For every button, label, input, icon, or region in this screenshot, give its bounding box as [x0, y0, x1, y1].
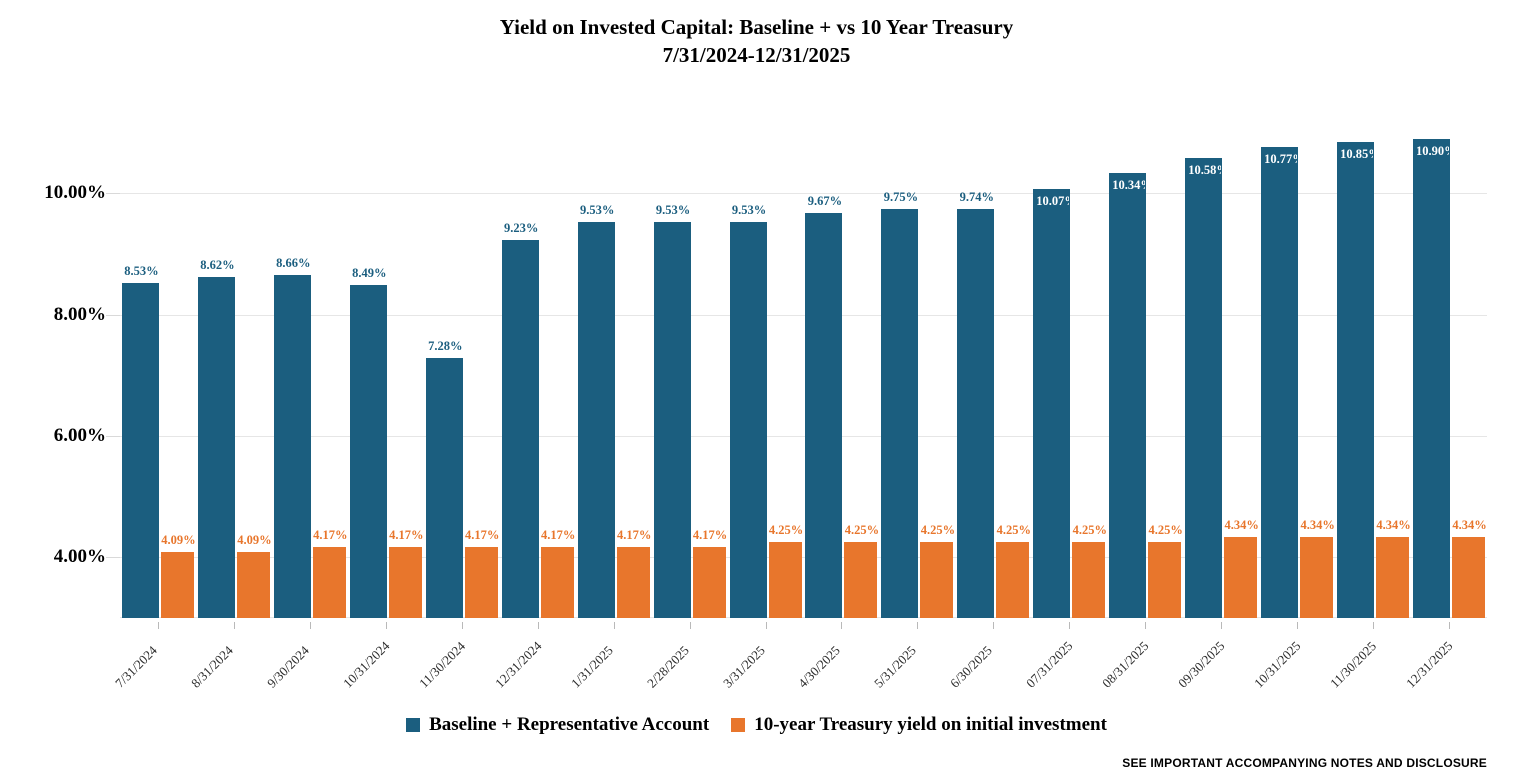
plot-area: 8.53%4.09%8.62%4.09%8.66%4.17%8.49%4.17%… [120, 140, 1487, 618]
bar-group: 7.28%4.17% [424, 140, 500, 618]
bar-baseline[interactable] [1185, 158, 1222, 618]
x-axis-tick-label: 08/31/2025 [1099, 638, 1152, 691]
y-axis: 4.00%6.00%8.00%10.00% [0, 140, 120, 618]
bar-value-label-baseline: 10.58% [1188, 164, 1221, 177]
bar-baseline[interactable] [274, 275, 311, 618]
bar-baseline[interactable] [1337, 142, 1374, 618]
bar-treasury[interactable] [1300, 537, 1333, 618]
legend-label: 10-year Treasury yield on initial invest… [754, 714, 1107, 736]
bar-treasury[interactable] [617, 547, 650, 618]
bar-baseline[interactable] [957, 209, 994, 618]
bar-value-label-treasury: 4.34% [1220, 519, 1263, 532]
bar-value-label-treasury: 4.34% [1296, 519, 1339, 532]
x-axis-tick-label: 8/31/2024 [188, 643, 237, 692]
bar-value-label-baseline: 9.23% [499, 222, 544, 235]
bar-value-label-treasury: 4.09% [233, 534, 276, 547]
chart-legend: Baseline + Representative Account10-year… [0, 714, 1513, 736]
x-axis-tick-mark [1145, 622, 1146, 629]
bar-baseline[interactable] [1033, 189, 1070, 618]
bar-baseline[interactable] [730, 222, 767, 618]
bar-baseline[interactable] [122, 283, 159, 618]
legend-item[interactable]: Baseline + Representative Account [406, 714, 709, 736]
x-axis-tick-mark [1221, 622, 1222, 629]
bar-baseline[interactable] [426, 358, 463, 618]
bar-baseline[interactable] [881, 209, 918, 618]
bar-value-label-treasury: 4.25% [840, 524, 883, 537]
bar-treasury[interactable] [541, 547, 574, 618]
bar-baseline[interactable] [654, 222, 691, 618]
bar-value-label-treasury: 4.25% [992, 524, 1035, 537]
bar-baseline[interactable] [350, 285, 387, 618]
bar-value-label-baseline: 9.53% [651, 204, 696, 217]
bar-value-label-treasury: 4.17% [689, 529, 732, 542]
bar-value-label-treasury: 4.25% [765, 524, 808, 537]
bar-value-label-treasury: 4.17% [461, 529, 504, 542]
bar-group: 9.75%4.25% [879, 140, 955, 618]
bar-value-label-treasury: 4.25% [916, 524, 959, 537]
bar-group: 8.53%4.09% [120, 140, 196, 618]
bar-treasury[interactable] [769, 542, 802, 618]
y-axis-tick-label: 8.00% [54, 304, 106, 326]
x-axis-tick-label: 11/30/2024 [416, 638, 469, 691]
x-axis-tick-mark [310, 622, 311, 629]
x-axis-tick-label: 12/31/2024 [492, 638, 545, 691]
bar-group: 9.23%4.17% [500, 140, 576, 618]
x-axis-tick-mark [841, 622, 842, 629]
bar-value-label-baseline: 7.28% [423, 340, 468, 353]
legend-swatch-baseline [406, 718, 420, 732]
disclosure-note: SEE IMPORTANT ACCOMPANYING NOTES AND DIS… [1122, 756, 1487, 770]
x-axis-tick-mark [462, 622, 463, 629]
bar-treasury[interactable] [465, 547, 498, 618]
bar-treasury[interactable] [389, 547, 422, 618]
legend-item[interactable]: 10-year Treasury yield on initial invest… [731, 714, 1107, 736]
legend-swatch-treasury [731, 718, 745, 732]
bar-value-label-baseline: 10.34% [1112, 179, 1145, 192]
bar-value-label-treasury: 4.17% [309, 529, 352, 542]
bar-group: 9.67%4.25% [804, 140, 880, 618]
bar-group: 8.66%4.17% [272, 140, 348, 618]
bar-baseline[interactable] [1413, 139, 1450, 618]
bar-value-label-baseline: 9.53% [575, 204, 620, 217]
bar-treasury[interactable] [161, 552, 194, 618]
bar-group: 9.53%4.25% [728, 140, 804, 618]
x-axis-tick-label: 2/28/2025 [644, 643, 693, 692]
bar-treasury[interactable] [920, 542, 953, 618]
bar-group: 10.90%4.34% [1411, 140, 1487, 618]
x-axis-tick-label: 11/30/2025 [1327, 638, 1380, 691]
x-axis-tick-mark [1373, 622, 1374, 629]
x-axis-tick-mark [538, 622, 539, 629]
bar-value-label-treasury: 4.34% [1448, 519, 1491, 532]
x-axis-tick-mark [766, 622, 767, 629]
x-axis-tick-mark [386, 622, 387, 629]
x-axis-tick-label: 12/31/2025 [1403, 638, 1456, 691]
bar-value-label-baseline: 8.49% [347, 267, 392, 280]
x-axis-tick-mark [690, 622, 691, 629]
bar-baseline[interactable] [198, 277, 235, 618]
x-axis-tick-mark [234, 622, 235, 629]
x-axis-tick-mark [158, 622, 159, 629]
bar-treasury[interactable] [844, 542, 877, 618]
bar-baseline[interactable] [502, 240, 539, 618]
x-axis-tick-mark [1069, 622, 1070, 629]
bar-value-label-treasury: 4.34% [1372, 519, 1415, 532]
bar-treasury[interactable] [996, 542, 1029, 618]
x-axis-tick-mark [1297, 622, 1298, 629]
x-axis-tick-label: 3/31/2025 [720, 643, 769, 692]
x-axis-tick-label: 6/30/2025 [947, 643, 996, 692]
bar-value-label-baseline: 8.66% [271, 257, 316, 270]
bar-group: 10.77%4.34% [1259, 140, 1335, 618]
bar-group: 9.53%4.17% [576, 140, 652, 618]
bar-group: 9.53%4.17% [652, 140, 728, 618]
x-axis-tick-label: 4/30/2025 [795, 643, 844, 692]
x-axis-tick-mark [993, 622, 994, 629]
bar-baseline[interactable] [805, 213, 842, 618]
bar-value-label-baseline: 9.53% [727, 204, 772, 217]
bar-baseline[interactable] [1109, 173, 1146, 618]
bar-group: 9.74%4.25% [955, 140, 1031, 618]
bar-value-label-treasury: 4.17% [385, 529, 428, 542]
bar-treasury[interactable] [1148, 542, 1181, 618]
bar-group: 8.49%4.17% [348, 140, 424, 618]
bar-baseline[interactable] [578, 222, 615, 618]
x-axis-tick-label: 09/30/2025 [1175, 638, 1228, 691]
bar-value-label-treasury: 4.25% [1144, 524, 1187, 537]
bar-treasury[interactable] [1376, 537, 1409, 618]
bar-baseline[interactable] [1261, 147, 1298, 618]
bar-group: 10.34%4.25% [1107, 140, 1183, 618]
bar-value-label-baseline: 9.67% [802, 195, 847, 208]
x-axis-tick-label: 10/31/2024 [340, 638, 393, 691]
bar-value-label-baseline: 8.62% [195, 259, 240, 272]
bar-value-label-baseline: 9.74% [954, 191, 999, 204]
chart-title: Yield on Invested Capital: Baseline + vs… [0, 14, 1513, 70]
x-axis-tick-label: 10/31/2025 [1251, 638, 1304, 691]
bar-treasury[interactable] [1452, 537, 1485, 618]
bar-value-label-baseline: 10.90% [1416, 145, 1449, 158]
legend-label: Baseline + Representative Account [429, 714, 709, 736]
chart-title-line-2: 7/31/2024-12/31/2025 [0, 42, 1513, 70]
bar-treasury[interactable] [1224, 537, 1257, 618]
x-axis-tick-label: 07/31/2025 [1023, 638, 1076, 691]
bar-value-label-treasury: 4.25% [1068, 524, 1111, 537]
bar-group: 10.58%4.34% [1183, 140, 1259, 618]
x-axis-tick-label: 1/31/2025 [568, 643, 617, 692]
bar-value-label-baseline: 10.07% [1036, 195, 1069, 208]
bar-value-label-baseline: 10.77% [1264, 153, 1297, 166]
bar-value-label-baseline: 10.85% [1340, 148, 1373, 161]
bar-group: 10.07%4.25% [1031, 140, 1107, 618]
bar-value-label-baseline: 8.53% [119, 265, 164, 278]
bar-treasury[interactable] [693, 547, 726, 618]
bar-value-label-baseline: 9.75% [878, 191, 923, 204]
bar-treasury[interactable] [237, 552, 270, 618]
bar-treasury[interactable] [1072, 542, 1105, 618]
bar-value-label-treasury: 4.09% [157, 534, 200, 547]
y-axis-tick-label: 6.00% [54, 425, 106, 447]
x-axis-tick-mark [917, 622, 918, 629]
bar-group: 8.62%4.09% [196, 140, 272, 618]
bar-group: 10.85%4.34% [1335, 140, 1411, 618]
bar-value-label-treasury: 4.17% [613, 529, 656, 542]
chart-container: Yield on Invested Capital: Baseline + vs… [0, 0, 1513, 776]
x-axis-tick-mark [1449, 622, 1450, 629]
bar-treasury[interactable] [313, 547, 346, 618]
chart-title-line-1: Yield on Invested Capital: Baseline + vs… [500, 15, 1013, 39]
y-axis-tick-label: 4.00% [54, 546, 106, 568]
bar-value-label-treasury: 4.17% [537, 529, 580, 542]
x-axis-tick-mark [614, 622, 615, 629]
x-axis-tick-label: 9/30/2024 [264, 643, 313, 692]
y-axis-tick-label: 10.00% [44, 182, 106, 204]
x-axis-tick-label: 7/31/2024 [112, 643, 161, 692]
x-axis: 7/31/20248/31/20249/30/202410/31/202411/… [0, 622, 1513, 712]
x-axis-tick-label: 5/31/2025 [871, 643, 920, 692]
